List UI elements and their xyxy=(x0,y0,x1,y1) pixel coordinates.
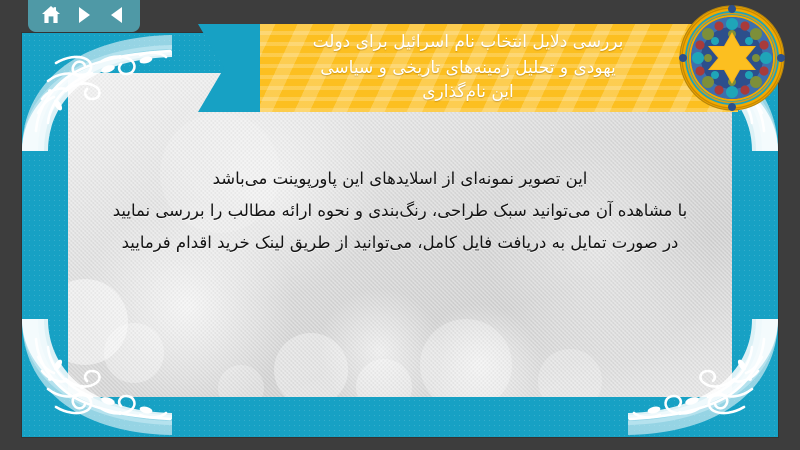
title-line-1: بررسی دلایل انتخاب نام اسرائیل برای دولت xyxy=(313,30,624,54)
body-line-3: در صورت تمایل به دریافت فایل کامل، می‌تو… xyxy=(68,227,732,259)
bokeh-circle xyxy=(356,359,412,397)
back-button[interactable] xyxy=(104,2,130,28)
slide-body-text: این تصویر نمونه‌ای از اسلایدهای این پاور… xyxy=(68,163,732,260)
home-icon xyxy=(40,4,62,26)
triangle-left-icon xyxy=(107,5,127,25)
bokeh-circle xyxy=(538,349,602,397)
slide-viewer: این تصویر نمونه‌ای از اسلایدهای این پاور… xyxy=(0,0,800,450)
body-line-2: با مشاهده آن می‌توانید سبک طراحی، رنگ‌بن… xyxy=(68,195,732,227)
triangle-right-icon xyxy=(74,5,94,25)
bokeh-circle xyxy=(274,333,348,397)
bokeh-circle xyxy=(104,323,164,383)
bokeh-circle xyxy=(68,279,128,365)
bokeh-circle xyxy=(218,365,264,397)
circular-medallion-ornament xyxy=(678,4,786,112)
title-banner: بررسی دلایل انتخاب نام اسرائیل برای دولت… xyxy=(198,24,738,112)
body-line-1: این تصویر نمونه‌ای از اسلایدهای این پاور… xyxy=(68,163,732,195)
forward-button[interactable] xyxy=(71,2,97,28)
bokeh-circle xyxy=(420,319,512,397)
slide-title: بررسی دلایل انتخاب نام اسرائیل برای دولت… xyxy=(198,24,738,112)
home-button[interactable] xyxy=(38,2,64,28)
navigation-bar xyxy=(28,0,140,32)
title-line-2: یهودی و تحلیل زمینه‌های تاریخی و سیاسی xyxy=(320,56,616,80)
title-line-3: این نام‌گذاری xyxy=(422,80,514,104)
